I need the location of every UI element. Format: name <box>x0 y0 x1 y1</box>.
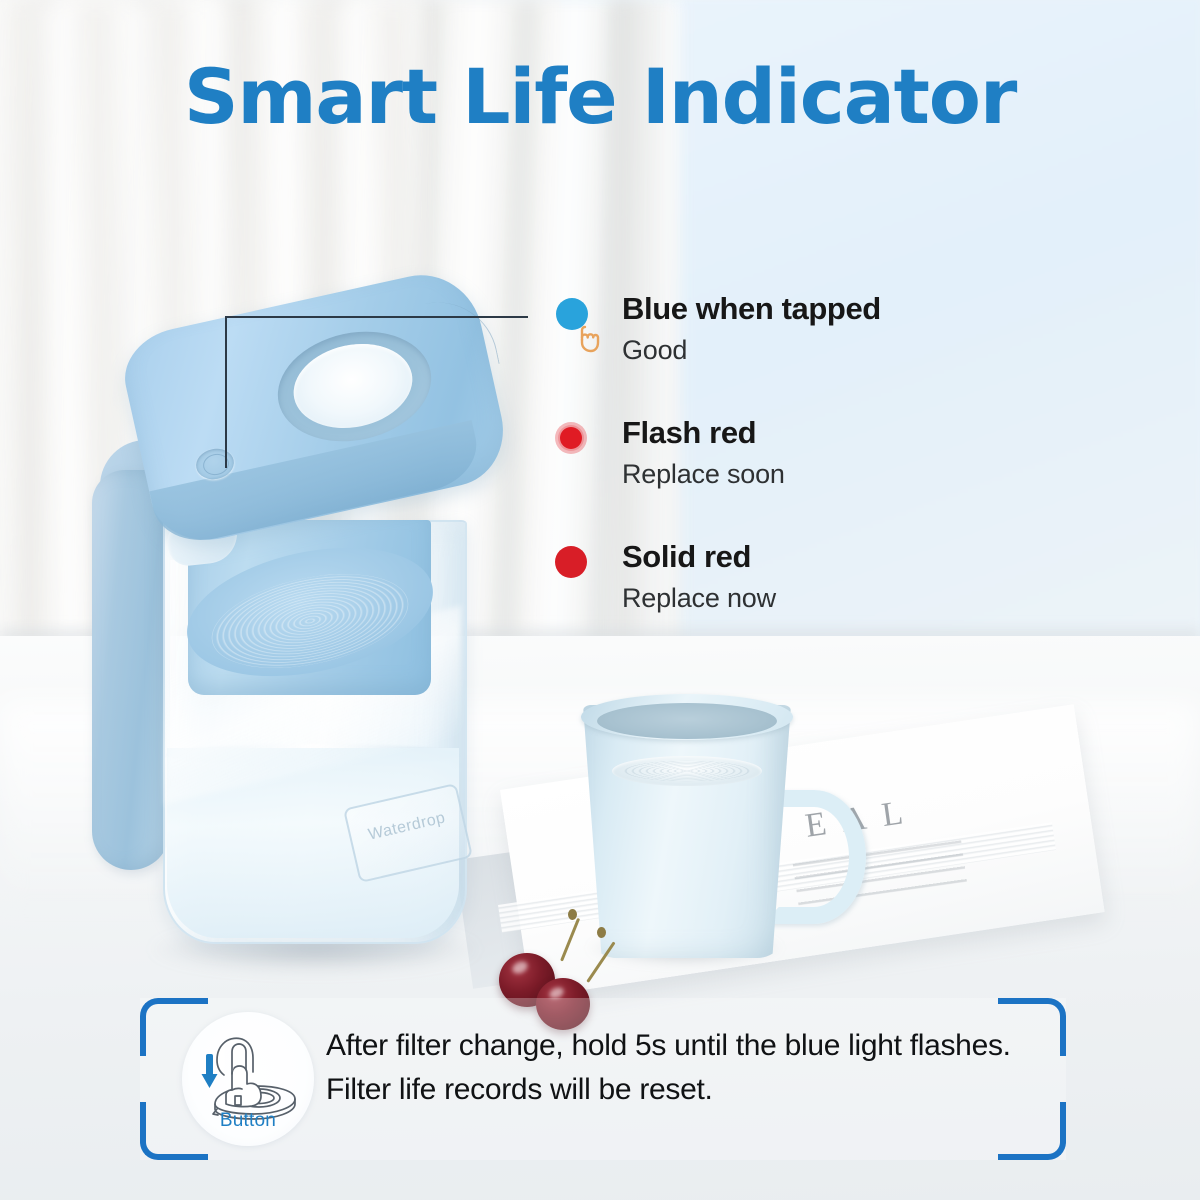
down-arrow-icon <box>202 1054 218 1088</box>
legend-item-solid-red: Solid red Replace now <box>552 540 1112 626</box>
leader-line-horizontal <box>225 316 528 318</box>
indicator-legend: Blue when tapped Good Flash red Replace … <box>552 292 1112 664</box>
status-dot-flash-core <box>560 427 582 449</box>
mug-body <box>583 705 791 958</box>
cherry-stem-tip <box>597 927 606 938</box>
reset-instruction-box: Button After filter change, hold 5s unti… <box>140 998 1066 1160</box>
legend-item-blue-tapped: Blue when tapped Good <box>552 292 1112 378</box>
status-dot-flash-wrap <box>552 420 612 480</box>
legend-title: Flash red <box>622 416 1112 450</box>
legend-subtitle: Replace soon <box>622 458 1112 492</box>
legend-subtitle: Replace now <box>622 582 1112 616</box>
mug-interior <box>597 703 777 739</box>
legend-item-flash-red: Flash red Replace soon <box>552 416 1112 502</box>
button-illustration-label: Button <box>182 1110 314 1132</box>
reset-instruction-text: After filter change, hold 5s until the b… <box>326 1024 1026 1113</box>
legend-title: Blue when tapped <box>622 292 1112 326</box>
infographic-canvas: EAL Waterdrop Smart Life Indicator <box>0 0 1200 1200</box>
status-dot-solid-wrap <box>552 544 612 604</box>
cherry-stem-tip <box>568 909 577 920</box>
status-dot-solid-red <box>555 546 587 578</box>
leader-line-vertical <box>225 317 227 468</box>
legend-subtitle: Good <box>622 334 1112 368</box>
mug-water-ripples <box>620 760 754 782</box>
pitcher-handle <box>92 470 170 870</box>
reset-instruction-line-2: Filter life records will be reset. <box>326 1068 1026 1112</box>
legend-title: Solid red <box>622 540 1112 574</box>
tap-hand-icon <box>572 318 612 358</box>
reset-instruction-line-1: After filter change, hold 5s until the b… <box>326 1024 1026 1068</box>
status-dot-blue-wrap <box>552 296 612 356</box>
page-title: Smart Life Indicator <box>0 52 1200 141</box>
